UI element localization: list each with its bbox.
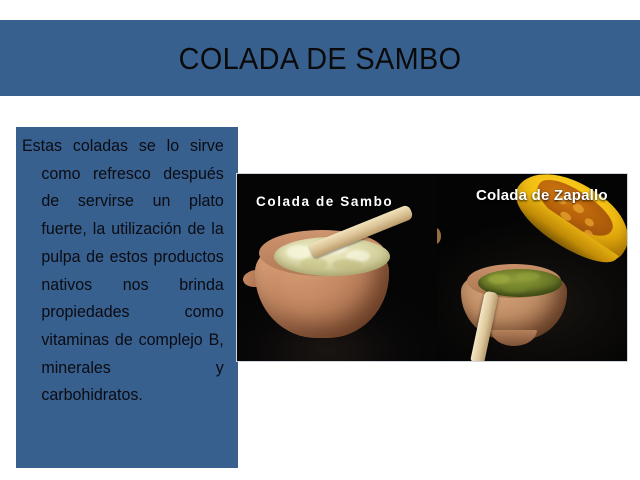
bowl-foot (491, 330, 537, 346)
slide-canvas: COLADA DE SAMBO Estas coladas se lo sirv… (0, 0, 640, 480)
page-title: COLADA DE SAMBO (179, 43, 462, 74)
bowl-rim (467, 264, 561, 298)
pumpkin-seed (583, 217, 595, 228)
porridge-texture (516, 272, 540, 281)
porridge-texture (488, 274, 510, 284)
porridge-texture (332, 259, 362, 270)
body-paragraph: Estas coladas se lo sirve como refresco … (22, 133, 224, 410)
photo-seam-sliver (437, 228, 441, 244)
photo-composite: Colada de Sambo Colada de Zapal (236, 173, 628, 362)
body-text-box: Estas coladas se lo sirve como refresco … (16, 127, 238, 468)
photo-caption-zapallo: Colada de Zapallo (476, 187, 608, 204)
photo-colada-de-sambo: Colada de Sambo (237, 174, 437, 361)
photo-colada-de-zapallo: Colada de Zapallo (437, 174, 627, 361)
clay-bowl-zapallo (461, 262, 567, 344)
porridge-texture (286, 245, 312, 259)
photo-caption-sambo: Colada de Sambo (256, 194, 393, 209)
porridge-texture (502, 284, 528, 293)
porridge-texture (300, 258, 328, 270)
title-banner: COLADA DE SAMBO (0, 20, 640, 96)
clay-bowl-sambo (249, 226, 395, 340)
